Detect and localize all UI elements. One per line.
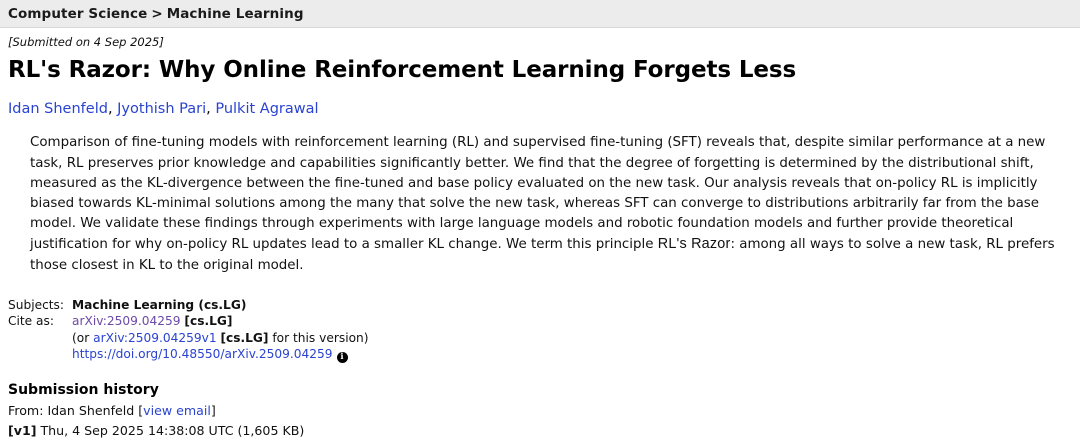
submission-version-detail: Thu, 4 Sep 2025 14:38:08 UTC (1,605 KB) — [36, 423, 304, 438]
page-title: RL's Razor: Why Online Reinforcement Lea… — [8, 55, 1072, 85]
cite-as-label: Cite as: — [8, 313, 72, 330]
doi-link[interactable]: https://doi.org/10.48550/arXiv.2509.0425… — [72, 347, 333, 361]
author-separator-1: , — [108, 101, 117, 117]
paper-metadata-table: Subjects: Machine Learning (cs.LG) Cite … — [8, 297, 369, 364]
submitted-date: [Submitted on 4 Sep 2025] — [8, 35, 1072, 49]
author-list: Idan Shenfeld, Jyothish Pari, Pulkit Agr… — [8, 100, 1072, 119]
metadata-row-version: (or arXiv:2509.04259v1 [cs.LG] for this … — [8, 330, 369, 347]
arxiv-version-link[interactable]: arXiv:2509.04259v1 — [93, 331, 217, 345]
info-icon[interactable]: i — [337, 352, 348, 363]
arxiv-category-tag: [cs.LG] — [184, 314, 232, 328]
version-category-tag: [cs.LG] — [220, 331, 268, 345]
abstract-part-1: Comparison of fine-tuning models with re… — [30, 135, 1045, 252]
subjects-label: Subjects: — [8, 297, 72, 314]
version-spacer-label — [8, 330, 72, 347]
metadata-row-subjects: Subjects: Machine Learning (cs.LG) — [8, 297, 369, 314]
submission-version-tag: [v1] — [8, 423, 36, 438]
submission-from-suffix: ] — [211, 403, 216, 418]
author-link-2[interactable]: Jyothish Pari — [117, 101, 206, 117]
version-suffix: for this version) — [269, 331, 369, 345]
author-separator-2: , — [206, 101, 215, 117]
subjects-value: Machine Learning (cs.LG) — [72, 297, 369, 314]
breadcrumb-primary[interactable]: Computer Science — [8, 6, 147, 22]
view-email-link[interactable]: view email — [143, 403, 211, 418]
version-prefix: (or — [72, 331, 93, 345]
doi-value: https://doi.org/10.48550/arXiv.2509.0425… — [72, 346, 369, 363]
cite-as-value: arXiv:2509.04259 [cs.LG] — [72, 313, 369, 330]
breadcrumb-secondary[interactable]: Machine Learning — [167, 6, 304, 22]
author-link-3[interactable]: Pulkit Agrawal — [215, 101, 318, 117]
metadata-row-doi: https://doi.org/10.48550/arXiv.2509.0425… — [8, 346, 369, 363]
abstract-text: Comparison of fine-tuning models with re… — [30, 133, 1072, 275]
subject-breadcrumb-bar: Computer Science > Machine Learning — [0, 0, 1080, 28]
metadata-row-cite-as: Cite as: arXiv:2509.04259 [cs.LG] — [8, 313, 369, 330]
submission-version-line: [v1] Thu, 4 Sep 2025 14:38:08 UTC (1,605… — [8, 422, 1072, 440]
paper-abstract-page: [Submitted on 4 Sep 2025] RL's Razor: Wh… — [0, 35, 1080, 440]
doi-spacer-label — [8, 346, 72, 363]
submission-history-heading: Submission history — [8, 381, 1072, 400]
version-value: (or arXiv:2509.04259v1 [cs.LG] for this … — [72, 330, 369, 347]
author-link-1[interactable]: Idan Shenfeld — [8, 101, 108, 117]
arxiv-id-link[interactable]: arXiv:2509.04259 — [72, 314, 181, 328]
submission-from-prefix: From: Idan Shenfeld [ — [8, 403, 143, 418]
breadcrumb-separator: > — [151, 6, 162, 22]
abstract-mathjax-term: RL's Razor — [658, 236, 731, 252]
